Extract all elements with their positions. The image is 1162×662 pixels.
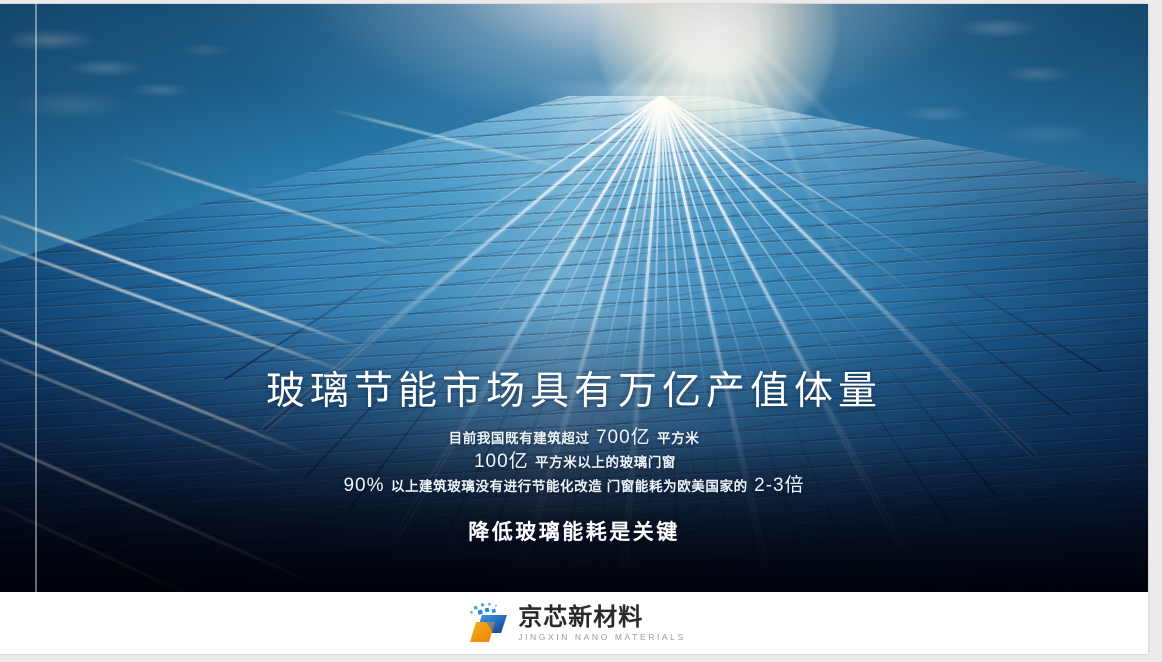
subtitle-line-3-post: 以上建筑玻璃没有进行节能化改造 门窗能耗为欧美国家的 bbox=[391, 479, 748, 494]
company-logo: 京芯新材料 JINGXIN NANO MATERIALS bbox=[462, 602, 686, 644]
logo-company-name-en: JINGXIN NANO MATERIALS bbox=[518, 633, 686, 642]
subtitle-line-1-post: 平方米 bbox=[657, 431, 699, 446]
subtitle-line-2: 100亿 平方米以上的玻璃门窗 bbox=[0, 450, 1148, 474]
subtitle-line-1-pre: 目前我国既有建筑超过 bbox=[449, 431, 590, 446]
subtitle-line-1-number: 700亿 bbox=[594, 427, 653, 448]
slide-kicker: 降低玻璃能耗是关键 bbox=[0, 516, 1148, 546]
slide-text-block: 玻璃节能市场具有万亿产值体量 目前我国既有建筑超过 700亿 平方米 100亿 … bbox=[0, 370, 1148, 546]
subtitle-line-3-number: 90% bbox=[341, 475, 386, 496]
subtitle-line-3: 90% 以上建筑玻璃没有进行节能化改造 门窗能耗为欧美国家的 2-3倍 bbox=[0, 474, 1148, 498]
subtitle-list: 目前我国既有建筑超过 700亿 平方米 100亿 平方米以上的玻璃门窗 90% … bbox=[0, 426, 1148, 498]
slide-sheet: 玻璃节能市场具有万亿产值体量 目前我国既有建筑超过 700亿 平方米 100亿 … bbox=[0, 4, 1148, 654]
logo-text-group: 京芯新材料 JINGXIN NANO MATERIALS bbox=[518, 605, 686, 642]
subtitle-line-2-post: 平方米以上的玻璃门窗 bbox=[535, 455, 676, 470]
subtitle-line-1: 目前我国既有建筑超过 700亿 平方米 bbox=[0, 426, 1148, 450]
page-title: 玻璃节能市场具有万亿产值体量 bbox=[0, 370, 1148, 414]
subtitle-line-2-number: 100亿 bbox=[472, 451, 531, 472]
subtitle-line-3-number-2: 2-3倍 bbox=[752, 475, 806, 496]
presentation-slide: 玻璃节能市场具有万亿产值体量 目前我国既有建筑超过 700亿 平方米 100亿 … bbox=[0, 0, 1162, 662]
jingxin-logo-mark-icon bbox=[462, 602, 508, 644]
logo-company-name-cn: 京芯新材料 bbox=[518, 605, 686, 630]
slide-footer: 京芯新材料 JINGXIN NANO MATERIALS bbox=[0, 592, 1148, 654]
